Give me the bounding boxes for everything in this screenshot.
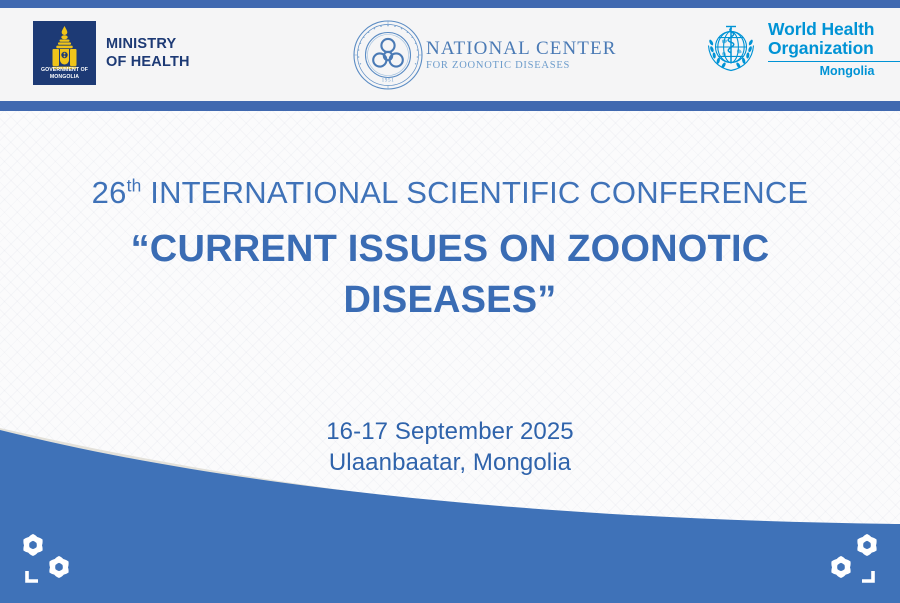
ministry-name-line1: MINISTRY: [106, 35, 190, 53]
header-divider-band: [0, 101, 900, 111]
who-un-globe-asclepius-emblem-icon: [700, 18, 762, 80]
nczd-name-line2: FOR ZOONOTIC DISEASES: [426, 59, 616, 73]
svg-text:1951: 1951: [382, 78, 395, 84]
who-name-line1: World Health: [768, 20, 900, 40]
emblem-caption-line2: MONGOLIA: [33, 74, 96, 81]
title-block: 26th INTERNATIONAL SCIENTIFIC CONFERENCE…: [0, 173, 900, 326]
mongolian-knot-ornament-left: [13, 527, 89, 589]
nczd-name-line1: NATIONAL CENTER: [426, 38, 616, 59]
conference-ordinal-suffix: th: [127, 176, 142, 196]
conference-number: 26: [92, 175, 127, 210]
mongolian-knot-ornament-right: [811, 527, 887, 589]
mongolia-state-emblem-soyombo-icon: GOVERNMENT OF MONGOLIA: [33, 21, 96, 85]
who-mongolia-logo: World Health Organization Mongolia: [700, 18, 900, 80]
ministry-of-health-logo: GOVERNMENT OF MONGOLIA MINISTRY OF HEALT…: [33, 21, 190, 85]
ministry-name-line2: OF HEALTH: [106, 53, 190, 71]
conference-heading-text: INTERNATIONAL SCIENTIFIC CONFERENCE: [141, 175, 808, 210]
who-name-line2: Organization: [768, 39, 900, 59]
who-name-block: World Health Organization Mongolia: [768, 20, 900, 79]
biohazard-seal-icon: 1951: [352, 19, 424, 91]
theme-title-line2: DISEASES”: [0, 275, 900, 326]
bottom-wave-band: [0, 428, 900, 603]
national-center-zoonotic-diseases-logo: 1951 NATIONAL CENTER FOR ZOONOTIC DISEAS…: [352, 19, 616, 91]
who-underline-rule: [768, 61, 900, 63]
emblem-caption-line1: GOVERNMENT OF: [33, 67, 96, 74]
top-accent-band: [0, 0, 900, 8]
nczd-name: NATIONAL CENTER FOR ZOONOTIC DISEASES: [426, 38, 616, 73]
who-country-label: Mongolia: [768, 64, 900, 78]
conference-title-slide: GOVERNMENT OF MONGOLIA MINISTRY OF HEALT…: [0, 0, 900, 603]
theme-title-line1: “CURRENT ISSUES ON ZOONOTIC: [0, 224, 900, 275]
emblem-caption: GOVERNMENT OF MONGOLIA: [33, 67, 96, 81]
conference-heading: 26th INTERNATIONAL SCIENTIFIC CONFERENCE: [0, 173, 900, 213]
ministry-of-health-name: MINISTRY OF HEALTH: [106, 35, 190, 71]
